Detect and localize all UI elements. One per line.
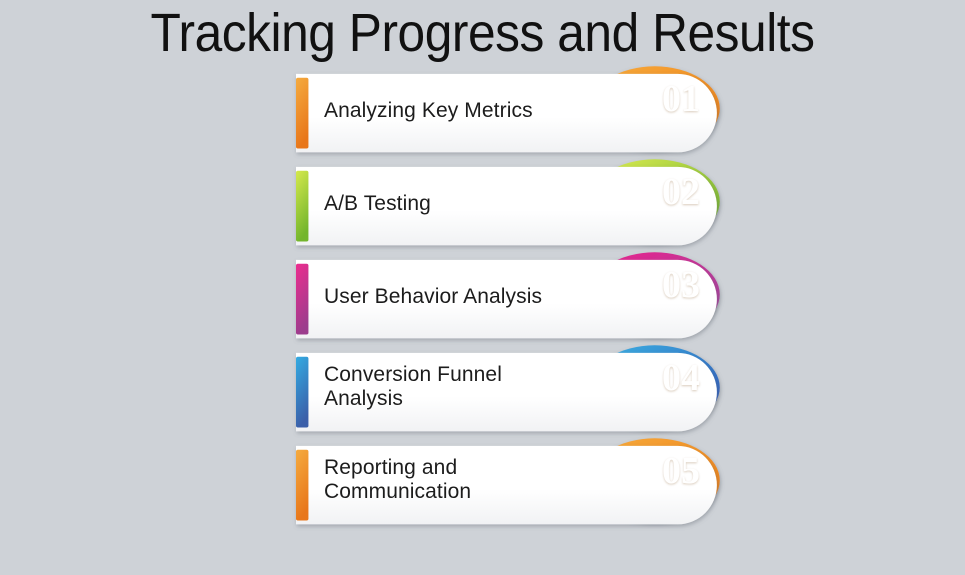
step-row[interactable]: Analyzing Key Metrics01 xyxy=(296,70,736,152)
infographic-root: Tracking Progress and Results Analyzing … xyxy=(0,0,965,575)
step-card xyxy=(296,260,717,338)
step-accent-bar xyxy=(296,78,308,149)
step-row[interactable]: Reporting and Communication05 xyxy=(296,442,736,524)
step-row[interactable]: A/B Testing02 xyxy=(296,163,736,245)
step-accent-bar xyxy=(296,171,308,242)
step-accent-bar xyxy=(296,264,308,335)
step-artwork xyxy=(296,349,736,441)
step-artwork xyxy=(296,442,736,534)
step-card xyxy=(296,167,717,245)
step-accent-bar xyxy=(296,450,308,521)
step-row[interactable]: Conversion Funnel Analysis04 xyxy=(296,349,736,431)
step-card xyxy=(296,74,717,152)
step-artwork xyxy=(296,256,736,348)
page-title: Tracking Progress and Results xyxy=(39,2,927,64)
step-row[interactable]: User Behavior Analysis03 xyxy=(296,256,736,338)
steps-list: Analyzing Key Metrics01A/B Testing02User… xyxy=(0,70,965,570)
step-accent-bar xyxy=(296,357,308,428)
step-card xyxy=(296,446,717,524)
step-artwork xyxy=(296,163,736,255)
step-artwork xyxy=(296,70,736,162)
step-card xyxy=(296,353,717,431)
